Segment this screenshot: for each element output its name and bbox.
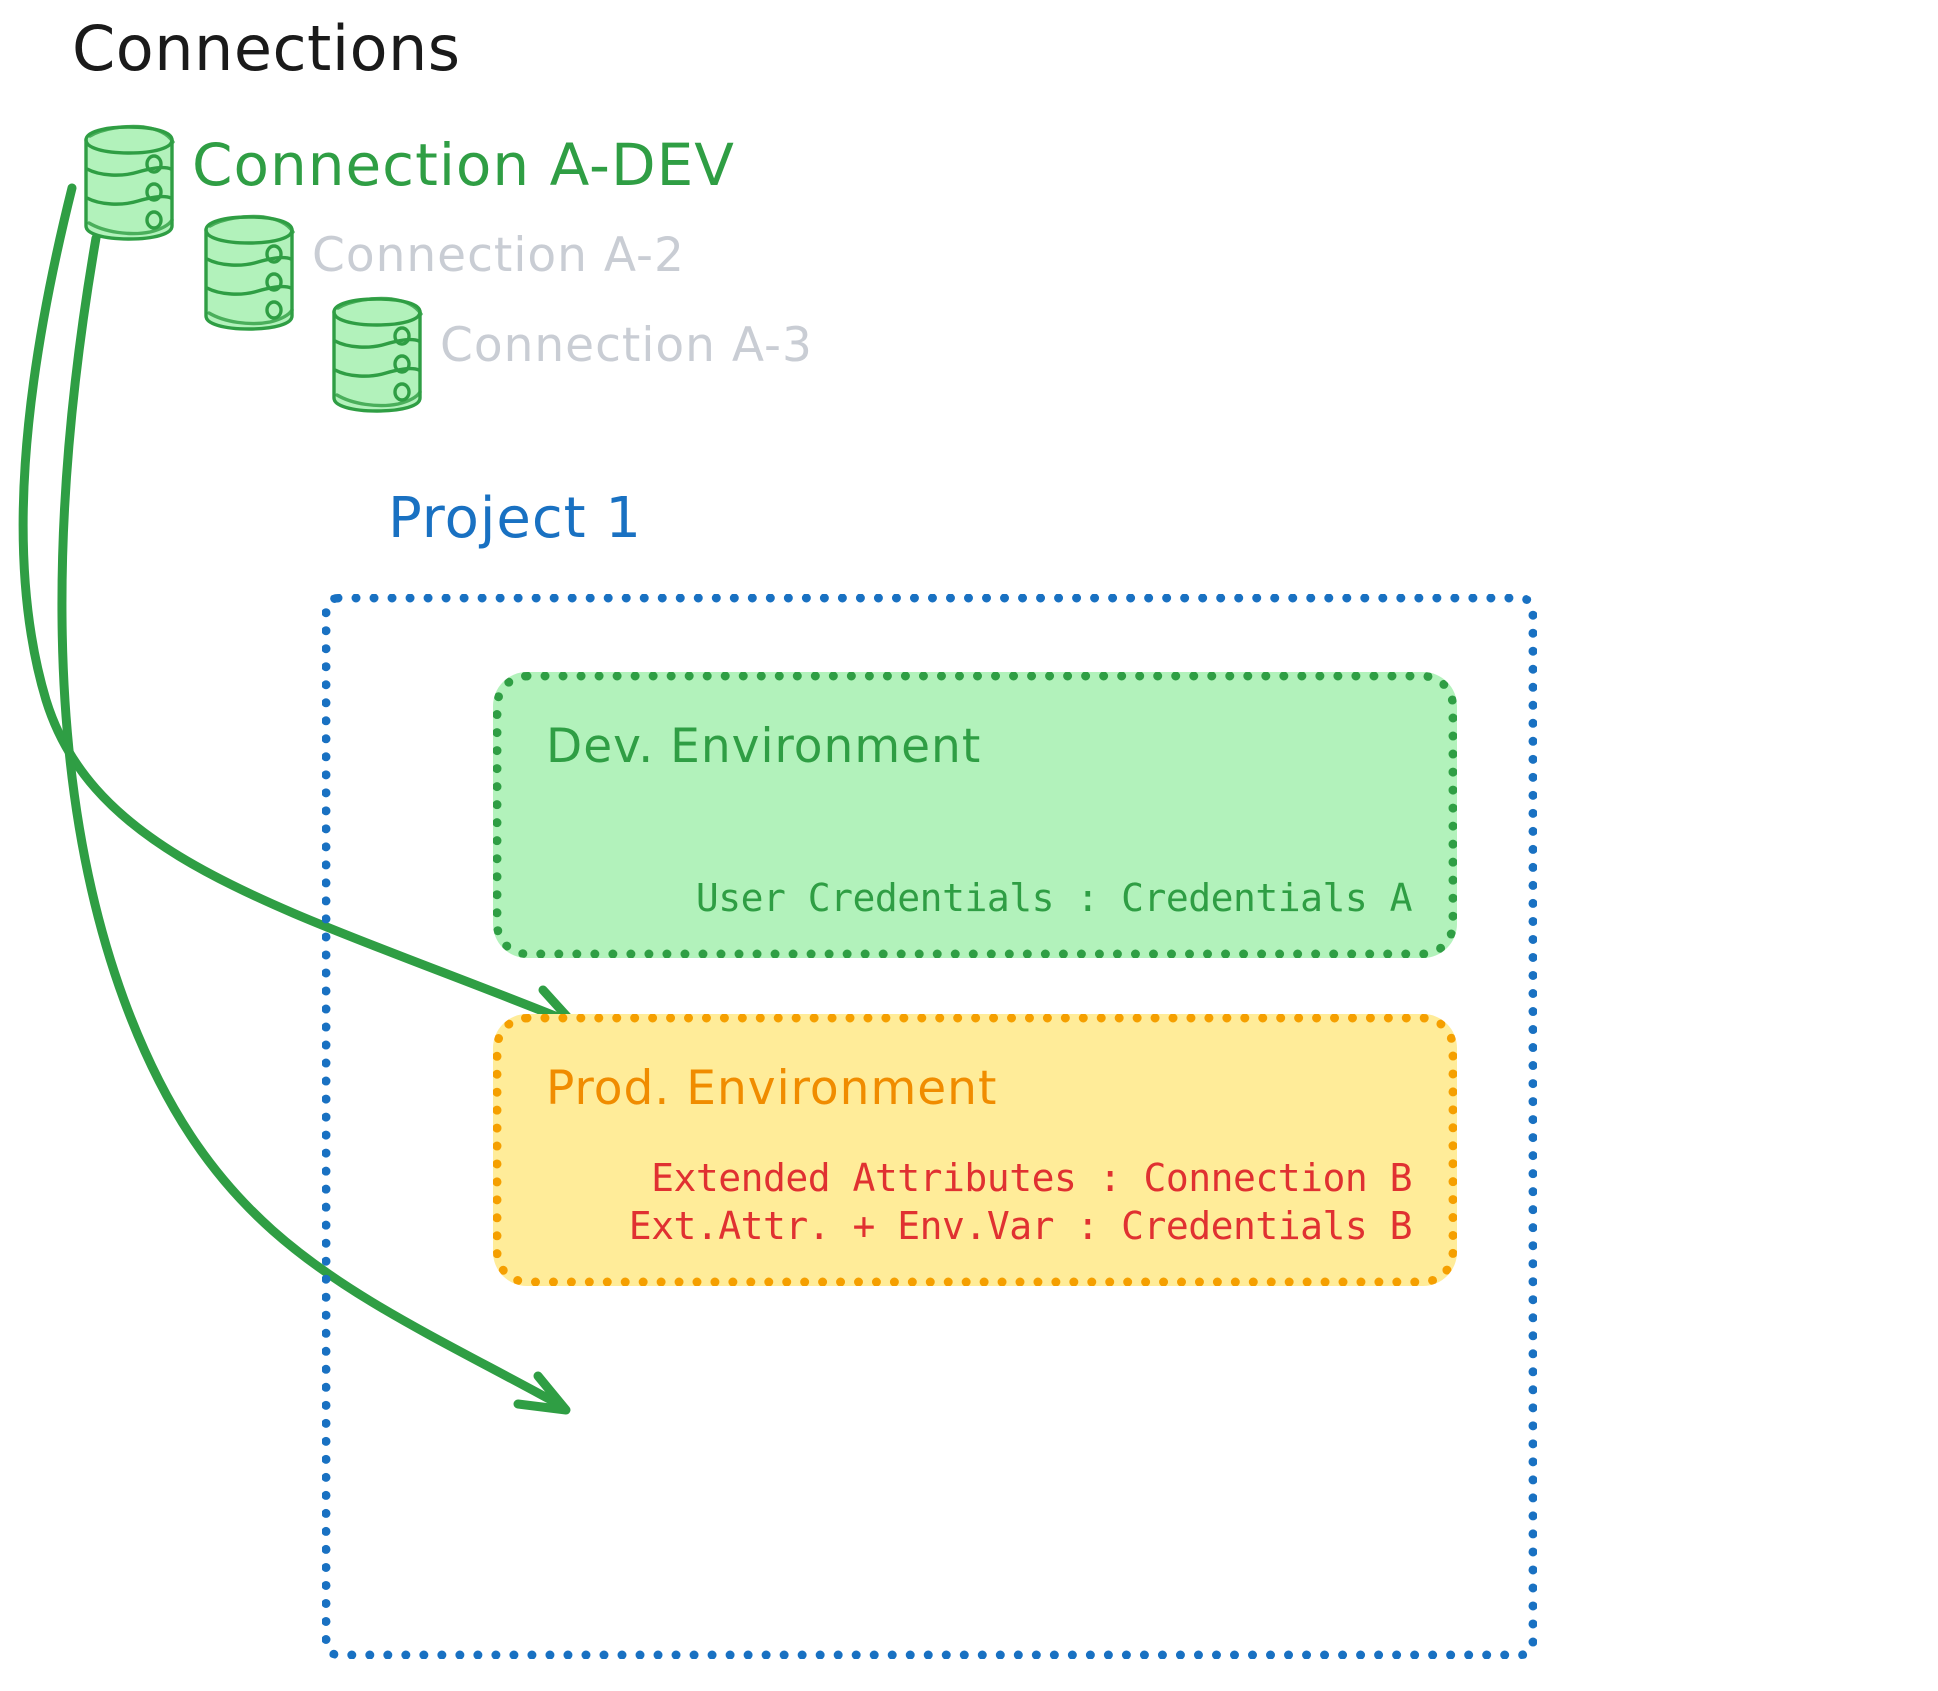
diagram-canvas: Connections [0, 0, 1938, 1691]
connection-label-a-2[interactable]: Connection A-2 [312, 228, 685, 283]
dev-detail-line: User Credentials : Credentials A [696, 874, 1412, 923]
database-icon[interactable] [198, 214, 300, 332]
prod-environment-title: Prod. Environment [546, 1061, 997, 1116]
dev-environment-details: User Credentials : Credentials A [696, 874, 1412, 923]
database-icon[interactable] [326, 296, 428, 414]
prod-detail-line: Extended Attributes : Connection B [629, 1154, 1412, 1203]
prod-environment-details: Extended Attributes : Connection B Ext.A… [629, 1154, 1412, 1251]
prod-environment-box[interactable]: Prod. Environment Extended Attributes : … [493, 1014, 1457, 1286]
dev-environment-box[interactable]: Dev. Environment User Credentials : Cred… [493, 672, 1457, 958]
database-icon[interactable] [78, 124, 180, 242]
dev-environment-title: Dev. Environment [546, 719, 981, 774]
prod-detail-line: Ext.Attr. + Env.Var : Credentials B [629, 1202, 1412, 1251]
connection-label-a-dev[interactable]: Connection A-DEV [192, 131, 735, 199]
connection-label-a-3[interactable]: Connection A-3 [440, 318, 813, 373]
project-title: Project 1 [388, 486, 642, 551]
page-title: Connections [72, 12, 461, 85]
